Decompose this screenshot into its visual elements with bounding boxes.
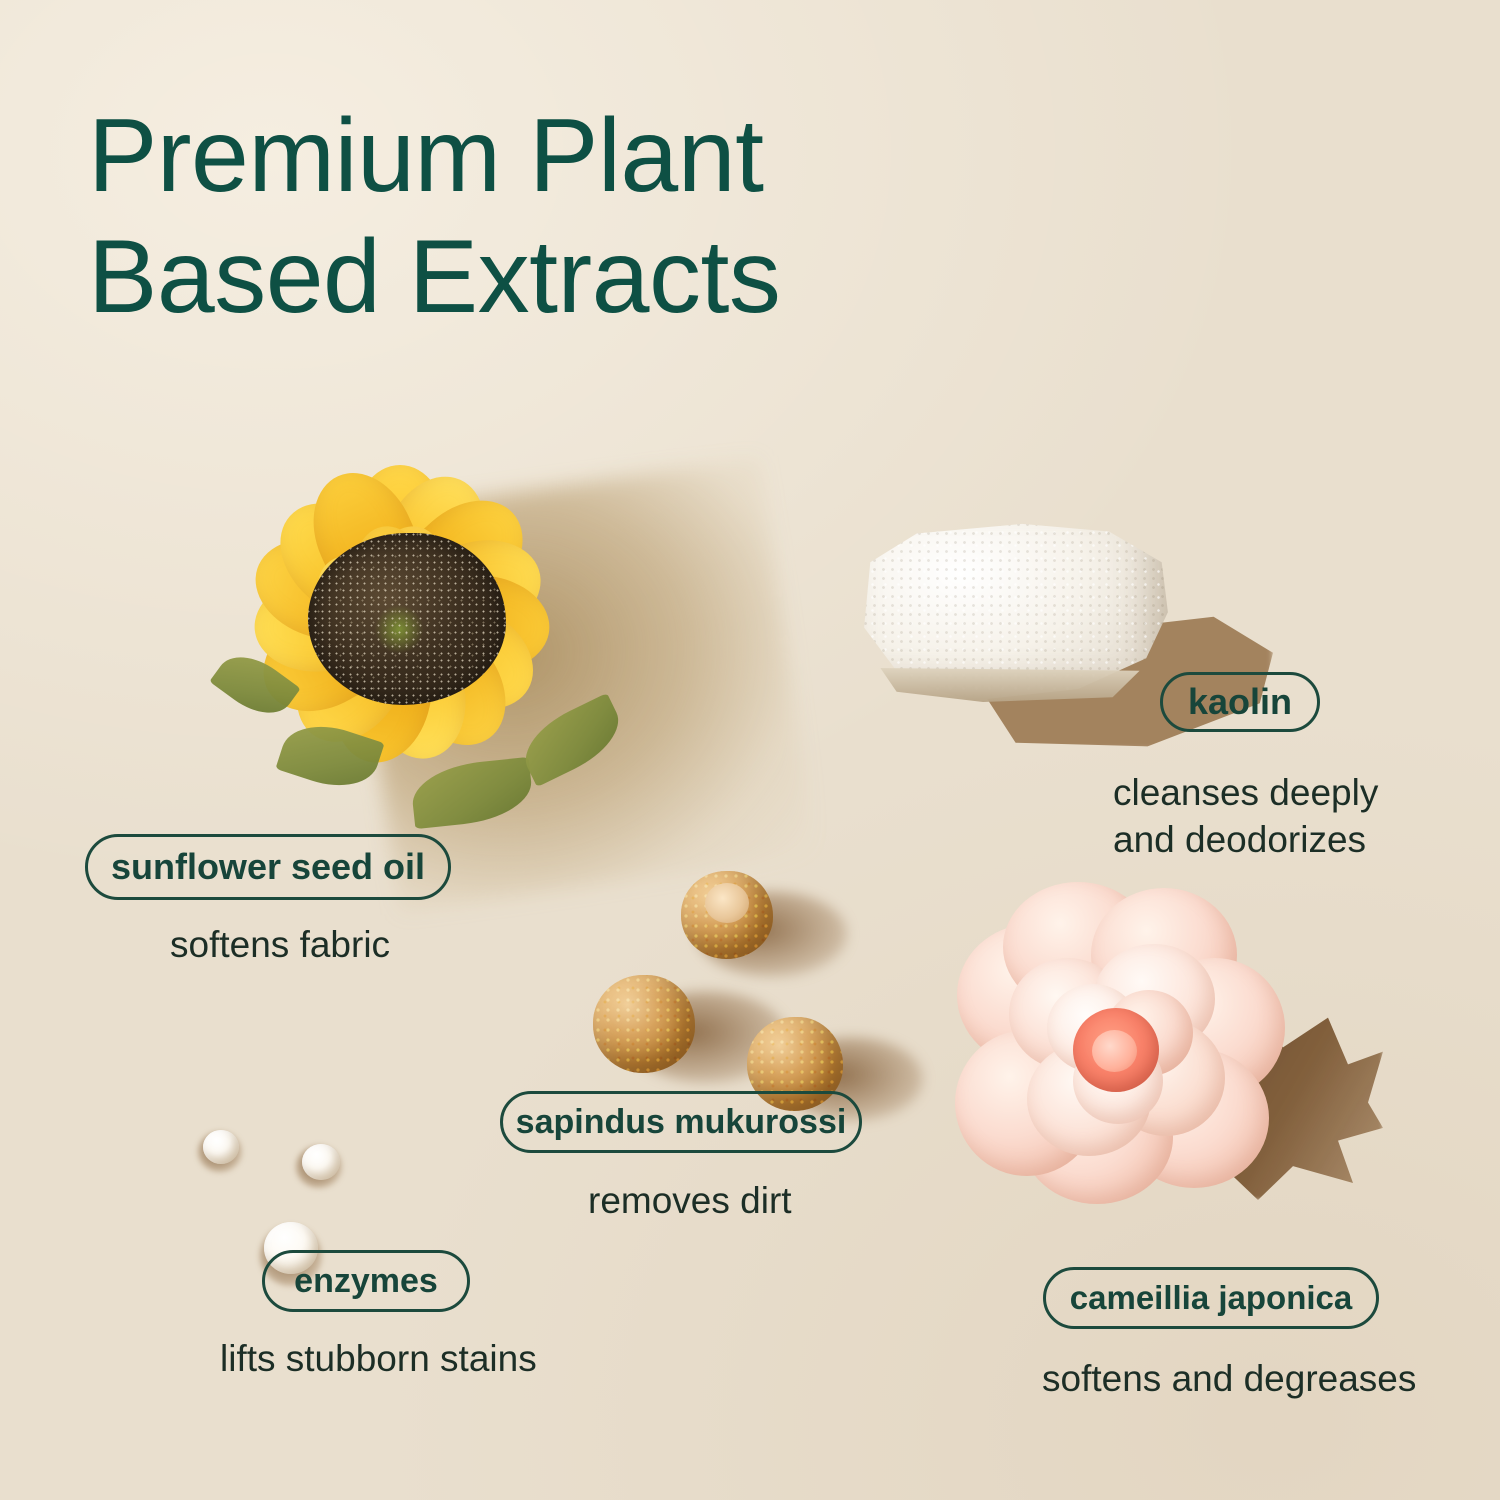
camellia-center (1073, 1008, 1159, 1092)
label-text: sunflower seed oil (111, 846, 425, 888)
label-pill-kaolin[interactable]: kaolin (1160, 672, 1320, 732)
label-pill-enzymes[interactable]: enzymes (262, 1250, 470, 1312)
caption-kaolin: cleanses deeply and deodorizes (1113, 770, 1500, 863)
caption-sunflower-seed-oil: softens fabric (170, 922, 590, 969)
label-text: sapindus mukurossi (516, 1103, 847, 1142)
label-pill-cameillia-japonica[interactable]: cameillia japonica (1043, 1267, 1379, 1329)
infographic-canvas: Premium Plant Based Extracts (0, 0, 1500, 1500)
sunflower-seed-core (308, 533, 506, 705)
caption-sapindus-mukurossi: removes dirt (588, 1178, 1008, 1225)
enzyme-bead (203, 1130, 239, 1164)
enzyme-bead (302, 1144, 340, 1180)
page-title: Premium Plant Based Extracts (88, 96, 1038, 337)
kaolin-rock-base (875, 668, 1145, 702)
caption-enzymes: lifts stubborn stains (220, 1336, 680, 1383)
label-pill-sunflower-seed-oil[interactable]: sunflower seed oil (85, 834, 451, 900)
label-text: kaolin (1188, 681, 1292, 723)
label-text: cameillia japonica (1070, 1279, 1352, 1317)
label-pill-sapindus-mukurossi[interactable]: sapindus mukurossi (500, 1091, 862, 1153)
camellia-photo (955, 880, 1395, 1280)
caption-cameillia-japonica: softens and degreases (1042, 1356, 1500, 1403)
soap-nuts-photo (575, 865, 895, 1105)
soap-nut (593, 975, 695, 1073)
label-text: enzymes (294, 1262, 438, 1301)
sunflower-photo (190, 415, 690, 865)
